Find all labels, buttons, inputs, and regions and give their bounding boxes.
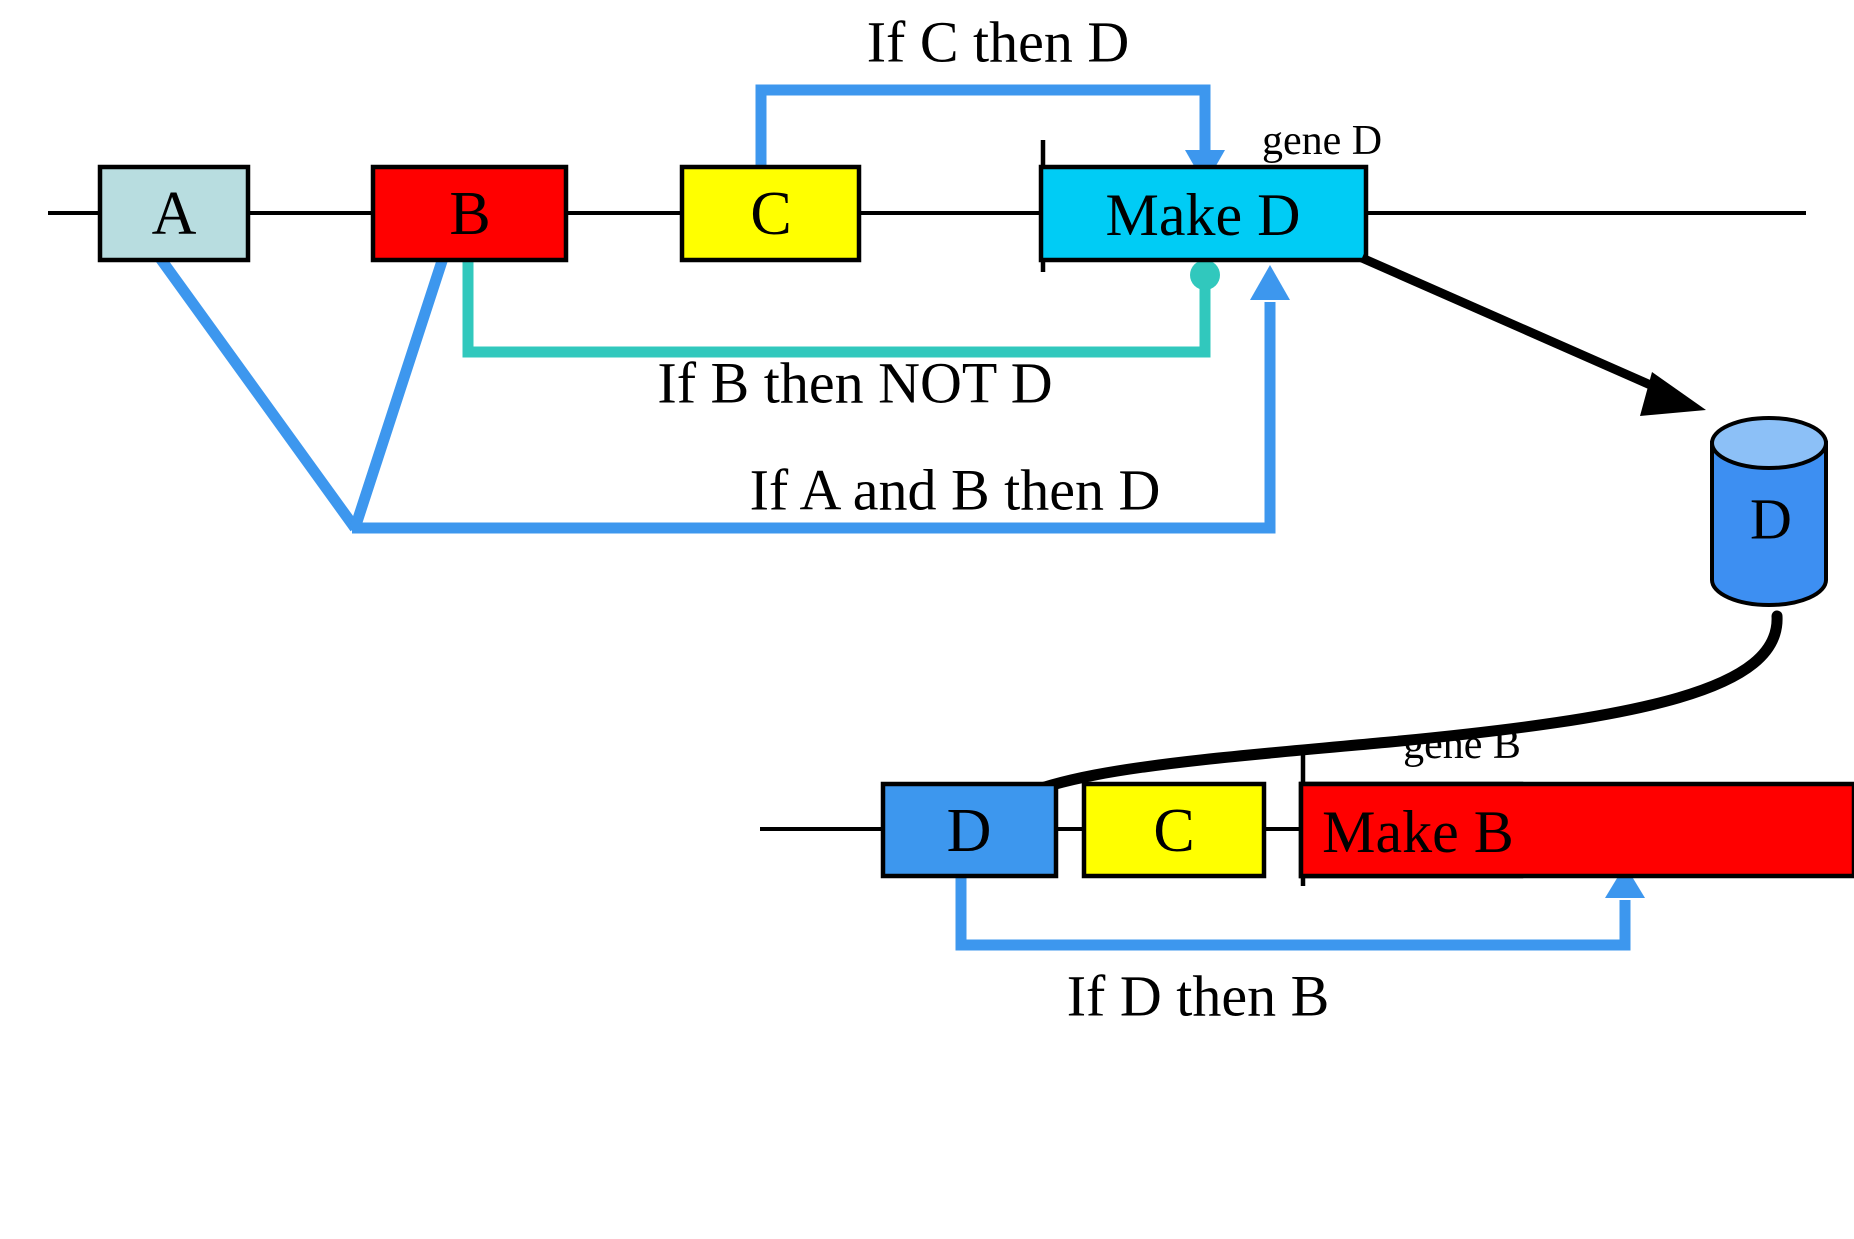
rule-if-a-and-b-then-d-label: If A and B then D bbox=[750, 458, 1161, 523]
rule-if-d-then-b-label: If D then B bbox=[1067, 964, 1330, 1029]
arrow-make-d-to-protein bbox=[1362, 258, 1706, 416]
box-d-bottom-label: D bbox=[947, 797, 992, 865]
gene-d-label: gene D bbox=[1262, 118, 1382, 164]
box-c[interactable]: C bbox=[682, 167, 859, 260]
box-a[interactable]: A bbox=[100, 167, 248, 260]
rule-if-b-then-not-d-wire bbox=[468, 260, 1220, 352]
box-make-d[interactable]: Make D bbox=[1041, 167, 1366, 260]
box-b-label: B bbox=[449, 180, 490, 248]
box-c-label: C bbox=[750, 180, 791, 248]
diagram-canvas: A B C Make D gene D bbox=[0, 0, 1854, 1239]
cylinder-top-ellipse bbox=[1712, 418, 1826, 468]
box-c-bottom-label: C bbox=[1153, 797, 1194, 865]
arrowhead-make-d-to-protein bbox=[1640, 372, 1706, 416]
gene-b-label-group: gene B bbox=[1403, 722, 1521, 768]
box-d-bottom[interactable]: D bbox=[883, 784, 1056, 876]
gene-d-label-group: gene D bbox=[1262, 118, 1382, 164]
gene-b-label: gene B bbox=[1403, 722, 1521, 768]
cylinder-d-label: D bbox=[1750, 487, 1792, 552]
arrowhead-if-a-and-b-then-d bbox=[1250, 265, 1290, 300]
box-b[interactable]: B bbox=[373, 167, 566, 260]
box-make-d-label: Make D bbox=[1106, 182, 1301, 248]
rule-if-b-then-not-d-label: If B then NOT D bbox=[657, 351, 1052, 416]
box-make-b-label: Make B bbox=[1322, 799, 1514, 865]
rule-if-c-then-d-label: If C then D bbox=[867, 10, 1130, 75]
box-make-b[interactable]: Make B bbox=[1301, 784, 1854, 876]
repressor-dot-icon bbox=[1190, 260, 1220, 290]
box-a-label: A bbox=[152, 180, 197, 248]
cylinder-d[interactable]: D bbox=[1712, 418, 1826, 605]
box-c-bottom[interactable]: C bbox=[1084, 784, 1264, 876]
